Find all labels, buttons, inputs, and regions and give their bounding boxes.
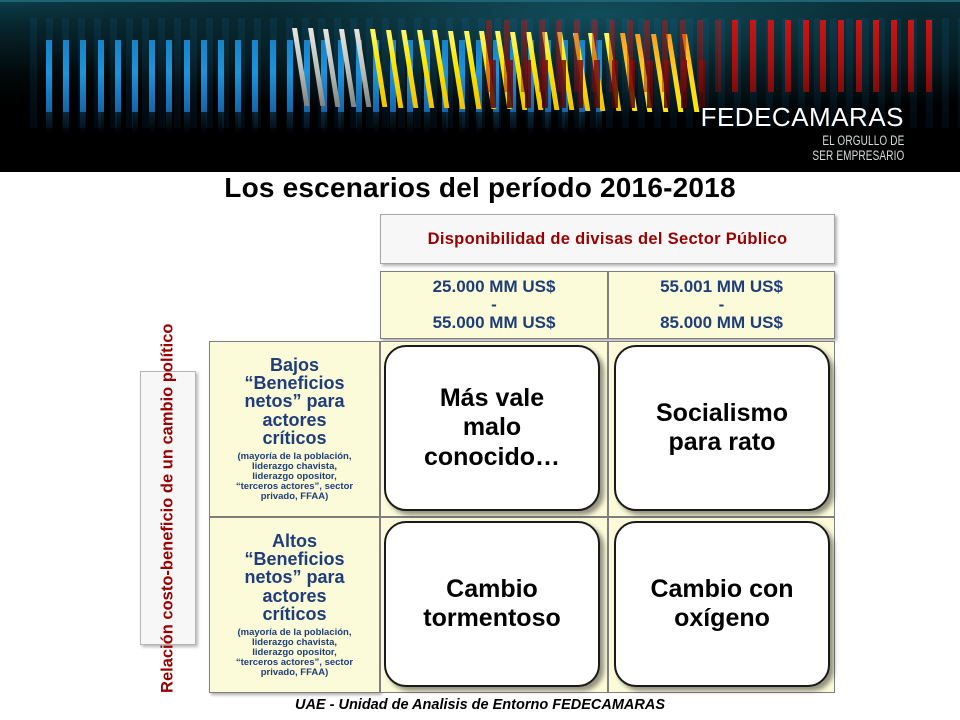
banner-bar xyxy=(218,40,224,112)
banner-bar xyxy=(270,112,276,134)
banner-bar xyxy=(46,112,52,134)
banner-bar xyxy=(373,112,379,134)
banner-bar xyxy=(174,18,181,128)
banner-bar xyxy=(545,112,551,134)
banner-bar xyxy=(132,112,138,134)
banner-bar xyxy=(98,112,104,134)
banner-bar xyxy=(493,112,499,134)
banner-bar xyxy=(115,40,121,112)
banner-bar xyxy=(287,40,293,112)
banner-bar xyxy=(442,112,448,134)
banner-bar xyxy=(539,20,545,92)
banner-bar xyxy=(80,112,86,134)
banner-bar xyxy=(270,40,276,112)
scenario-card-0-0: Más vale malo conocido… xyxy=(384,345,600,511)
banner-bar xyxy=(46,40,52,112)
banner-bar xyxy=(785,20,791,92)
banner-bar xyxy=(574,20,580,92)
banner-bar xyxy=(63,40,69,112)
banner-bar xyxy=(504,20,510,92)
row-axis-title: Relación costo-beneficio de un cambio po… xyxy=(159,323,177,692)
banner-bar xyxy=(166,40,172,112)
row-header-0-main: Bajos “Beneficios netos” para actores cr… xyxy=(244,356,344,448)
banner-bar xyxy=(476,112,482,134)
banner-bar xyxy=(459,112,465,134)
banner-bar xyxy=(390,112,396,134)
banner-bar xyxy=(680,20,686,92)
banner-bar xyxy=(486,20,492,92)
scenario-card-1-0: Cambio tormentoso xyxy=(384,521,600,687)
page-title: Los escenarios del período 2016-2018 xyxy=(0,172,960,204)
banner-bar xyxy=(166,112,172,134)
banner-bar xyxy=(201,40,207,112)
banner-bar xyxy=(942,18,949,128)
banner-bar xyxy=(510,112,516,134)
banner-bar xyxy=(803,20,809,92)
banner-bar xyxy=(80,40,86,112)
banner-bar xyxy=(592,20,598,92)
banner-bar xyxy=(304,112,310,134)
banner-bar xyxy=(206,18,213,128)
banner-bar xyxy=(528,112,534,134)
column-axis-title: Disponibilidad de divisas del Sector Púb… xyxy=(380,214,835,264)
banner-bar xyxy=(218,112,224,134)
row-header-1-sub: (mayoría de la población, liderazgo chav… xyxy=(236,628,353,678)
banner-bar xyxy=(142,18,149,128)
banner-bar xyxy=(768,20,774,92)
banner-bar xyxy=(63,112,69,134)
row-axis-title-box: Relación costo-beneficio de un cambio po… xyxy=(140,371,196,645)
banner-bar xyxy=(627,20,633,92)
row-header-0-sub: (mayoría de la población, liderazgo chav… xyxy=(236,452,353,502)
banner-bar xyxy=(662,20,668,92)
banner-bar xyxy=(338,112,344,134)
banner-bar xyxy=(184,112,190,134)
banner-bar xyxy=(132,40,138,112)
banner-bar xyxy=(873,20,879,92)
banner-bar xyxy=(190,18,197,128)
banner-bar xyxy=(252,112,258,134)
banner-bar xyxy=(732,20,738,92)
banner-bar xyxy=(562,112,568,134)
banner-bar xyxy=(235,112,241,134)
banner-bar xyxy=(697,20,703,92)
banner-bar xyxy=(158,18,165,128)
footer-credit: UAE - Unidad de Analisis de Entorno FEDE… xyxy=(0,697,960,713)
banner-bar xyxy=(30,18,37,128)
banner-bar xyxy=(579,112,585,134)
banner-bar xyxy=(908,20,914,92)
banner-bar xyxy=(820,20,826,92)
fedecamaras-logo: FEDECAMARAS EL ORGULLO DE SER EMPRESARIO xyxy=(701,104,904,163)
banner-bar xyxy=(287,112,293,134)
banner-bar xyxy=(644,20,650,92)
banner-bar xyxy=(201,112,207,134)
banner-bar xyxy=(321,112,327,134)
banner-bar xyxy=(596,112,602,134)
header-banner: FEDECAMARAS EL ORGULLO DE SER EMPRESARIO xyxy=(0,0,960,172)
row-header-0: Bajos “Beneficios netos” para actores cr… xyxy=(209,341,380,517)
column-header-0: 25.000 MM US$ - 55.000 MM US$ xyxy=(380,271,608,339)
banner-bar xyxy=(356,112,362,134)
logo-tagline: EL ORGULLO DE SER EMPRESARIO xyxy=(753,133,904,163)
row-header-1-main: Altos “Beneficios netos” para actores cr… xyxy=(244,532,344,624)
scenario-card-1-1: Cambio con oxígeno xyxy=(614,521,830,687)
banner-bar xyxy=(856,20,862,92)
banner-bar xyxy=(838,20,844,92)
banner-bar xyxy=(715,20,721,92)
banner-bar xyxy=(750,20,756,92)
banner-bar xyxy=(235,40,241,112)
banner-bar xyxy=(252,40,258,112)
row-header-1: Altos “Beneficios netos” para actores cr… xyxy=(209,517,380,693)
scenario-card-0-1: Socialismo para rato xyxy=(614,345,830,511)
banner-bar xyxy=(149,112,155,134)
banner-bar xyxy=(424,112,430,134)
banner-bar xyxy=(407,112,413,134)
banner-bar xyxy=(115,112,121,134)
banner-bar xyxy=(521,20,527,92)
banner-bar xyxy=(184,40,190,112)
logo-wordmark: FEDECAMARAS xyxy=(701,104,904,130)
banner-bar xyxy=(98,40,104,112)
banner-bar xyxy=(149,40,155,112)
scenario-matrix: Disponibilidad de divisas del Sector Púb… xyxy=(199,214,839,692)
banner-bar xyxy=(609,20,615,92)
banner-bar xyxy=(891,20,897,92)
banner-bar xyxy=(926,20,932,92)
column-header-1: 55.001 MM US$ - 85.000 MM US$ xyxy=(608,271,835,339)
banner-bar xyxy=(556,20,562,92)
